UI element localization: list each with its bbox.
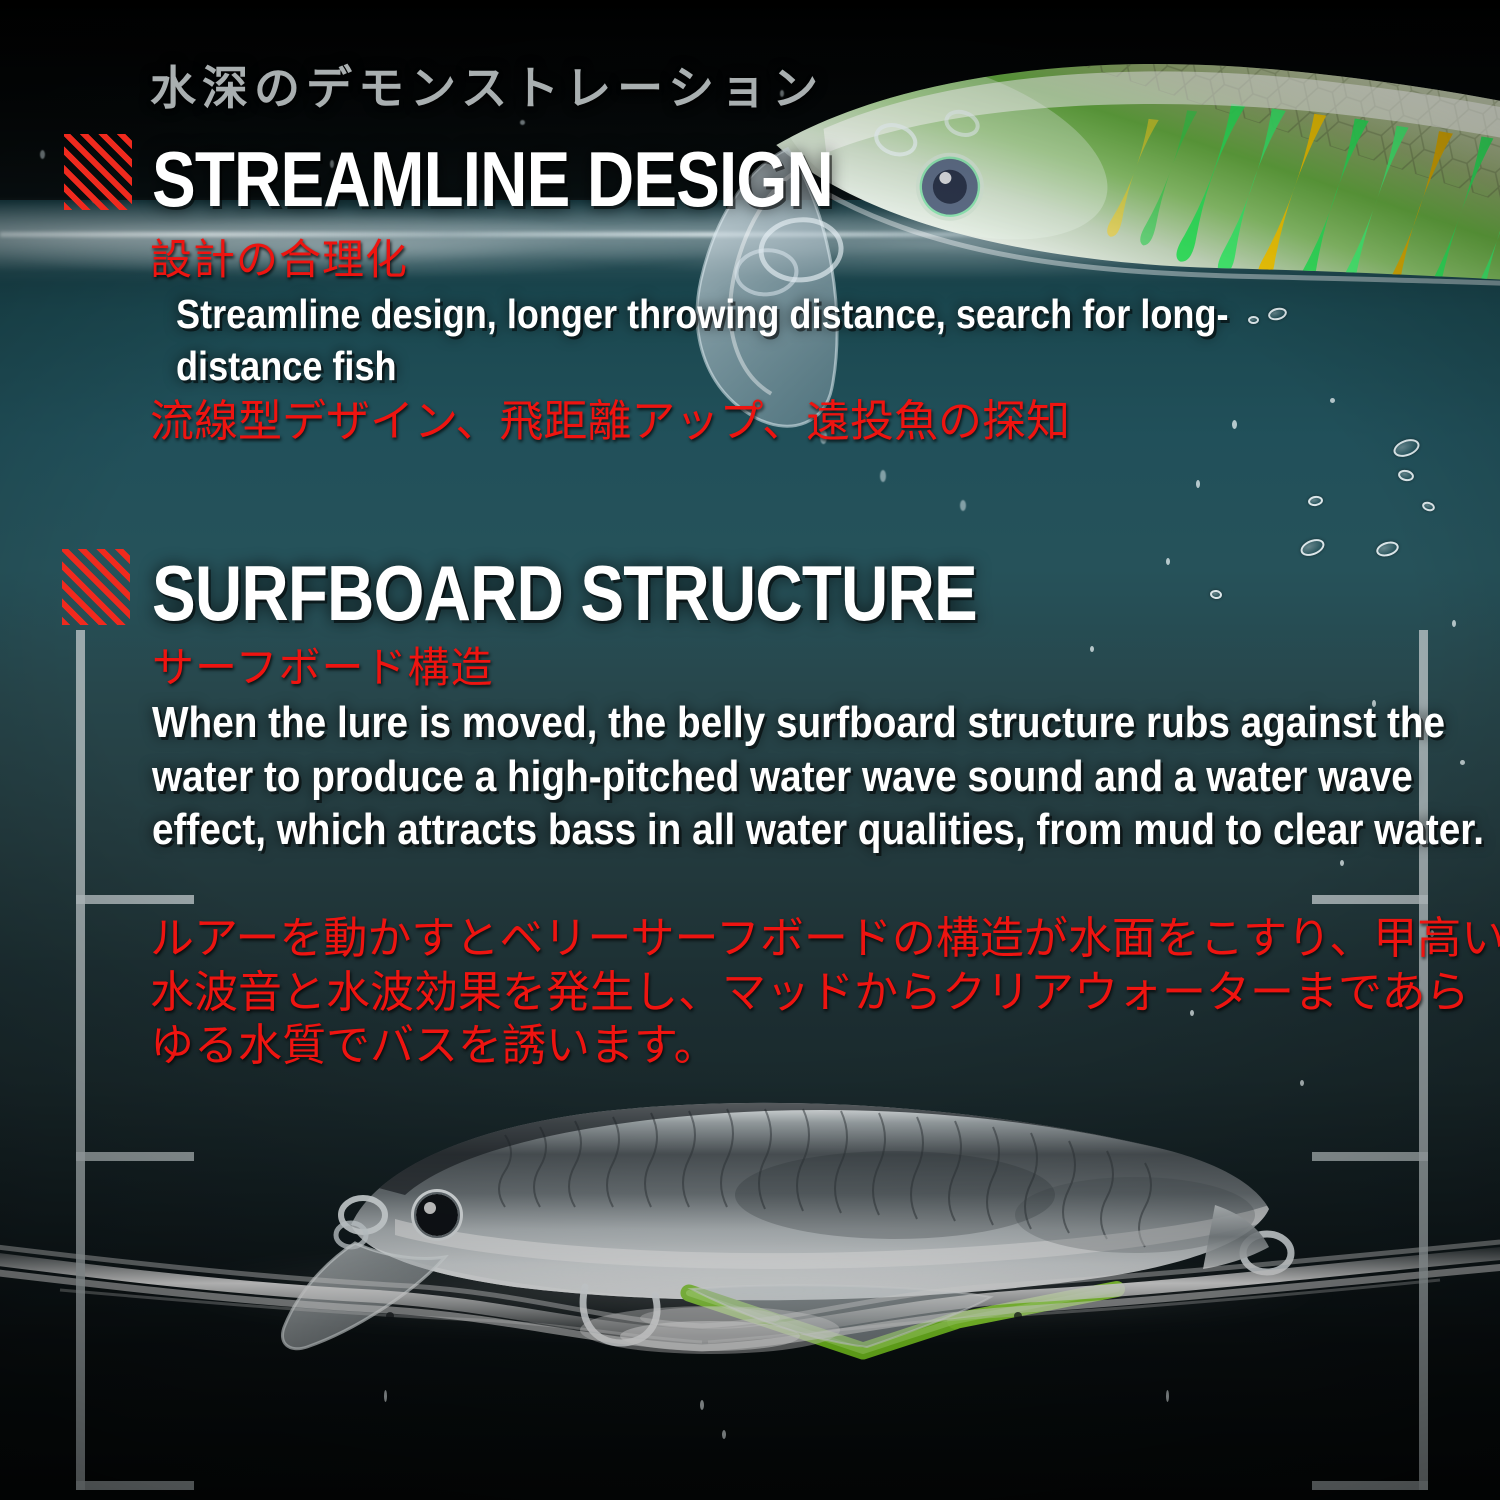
frame-tick-right-lower bbox=[1312, 1152, 1428, 1161]
water-surface-glow bbox=[0, 1255, 1500, 1325]
bubble-dot bbox=[1166, 1390, 1169, 1402]
bubble-dot bbox=[1166, 558, 1170, 565]
section-subtitle-surfboard-structure-jp: サーフボード構造 bbox=[152, 634, 493, 695]
section-marker-hatch-icon bbox=[62, 549, 130, 625]
bubble-dot bbox=[1196, 480, 1200, 488]
frame-tick-left-upper bbox=[76, 895, 194, 904]
frame-tick-left-lower bbox=[76, 1152, 194, 1161]
water-droplet bbox=[520, 120, 525, 125]
bubble-dot bbox=[1300, 1080, 1304, 1086]
frame-tick-right-bottom bbox=[1312, 1481, 1428, 1490]
section-marker-hatch-icon bbox=[64, 134, 132, 210]
section-body-surfboard-structure-jp: ルアーを動かすとベリーサーフボードの構造が水面をこすり、甲高い水波音と水波効果を… bbox=[150, 912, 1500, 1073]
bubble-dot bbox=[384, 1390, 387, 1402]
section-title-surfboard-structure: SURFBOARD STRUCTURE bbox=[152, 548, 977, 639]
splash-droplet bbox=[960, 500, 966, 511]
splash-droplet bbox=[880, 470, 886, 482]
section-body-surfboard-structure-en: When the lure is moved, the belly surfbo… bbox=[152, 696, 1490, 857]
section-body-streamline-design-en: Streamline design, longer throwing dista… bbox=[176, 288, 1346, 393]
bubble-dot bbox=[1452, 620, 1456, 627]
bubble-dot bbox=[1090, 646, 1094, 652]
bubble-dot bbox=[1340, 860, 1344, 866]
frame-tick-left-bottom bbox=[76, 1481, 194, 1490]
bubble-dot bbox=[722, 1430, 726, 1439]
section-title-streamline-design: STREAMLINE DESIGN bbox=[152, 134, 833, 225]
product-feature-poster: 水深のデモンストレーション STREAMLINE DESIGN 設計の合理化 S… bbox=[0, 0, 1500, 1500]
frame-bracket-left-vertical bbox=[76, 630, 85, 1490]
section-subtitle-streamline-design-jp: 設計の合理化 bbox=[150, 226, 408, 287]
frame-tick-right-upper bbox=[1312, 895, 1428, 904]
bubble-dot bbox=[700, 1400, 704, 1410]
water-droplet bbox=[40, 150, 45, 159]
poster-header-japanese: 水深のデモンストレーション bbox=[150, 52, 824, 118]
section-body-streamline-design-jp: 流線型デザイン、飛距離アップ、遠投魚の探知 bbox=[150, 396, 1490, 449]
